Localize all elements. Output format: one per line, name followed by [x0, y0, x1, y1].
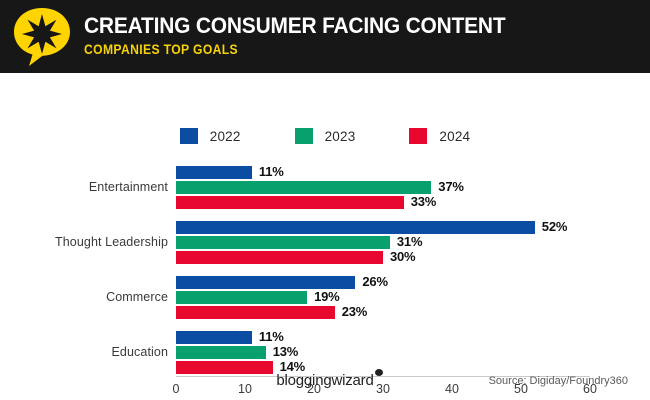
- category-label: Thought Leadership: [55, 235, 168, 249]
- bar-2024-thought-leadership: [176, 251, 383, 264]
- bar-value-label: 11%: [259, 329, 284, 344]
- bar-2024-entertainment: [176, 196, 404, 209]
- category-label: Commerce: [106, 290, 168, 304]
- bar-2024-commerce: [176, 306, 335, 319]
- bar-2023-entertainment: [176, 181, 431, 194]
- bar-2022-commerce: [176, 276, 355, 289]
- bar-2023-education: [176, 346, 266, 359]
- brand-text: bloggingwizard: [276, 372, 373, 389]
- infographic-chart-page: CREATING CONSUMER FACING CONTENT COMPANI…: [0, 0, 650, 400]
- bar-value-label: 31%: [397, 234, 422, 249]
- brand-dot-icon: [375, 369, 383, 376]
- source-attribution: Source: Digiday/Foundry360: [489, 375, 628, 387]
- bar-value-label: 33%: [411, 194, 436, 209]
- bar-value-label: 30%: [390, 249, 415, 264]
- bar-value-label: 19%: [314, 289, 339, 304]
- bar-value-label: 37%: [438, 179, 463, 194]
- bar-value-label: 26%: [362, 274, 387, 289]
- bar-2022-thought-leadership: [176, 221, 535, 234]
- brand-wordmark: bloggingwizard: [276, 372, 373, 389]
- bar-2023-thought-leadership: [176, 236, 390, 249]
- bar-value-label: 13%: [273, 344, 298, 359]
- bar-2022-entertainment: [176, 166, 252, 179]
- bar-value-label: 23%: [342, 304, 367, 319]
- category-label: Education: [112, 345, 169, 359]
- bar-value-label: 11%: [259, 164, 284, 179]
- bar-chart-plot: Entertainment11%37%33%Thought Leadership…: [0, 0, 650, 400]
- bar-2023-commerce: [176, 291, 307, 304]
- bar-2022-education: [176, 331, 252, 344]
- bar-value-label: 52%: [542, 219, 567, 234]
- category-label: Entertainment: [89, 180, 168, 194]
